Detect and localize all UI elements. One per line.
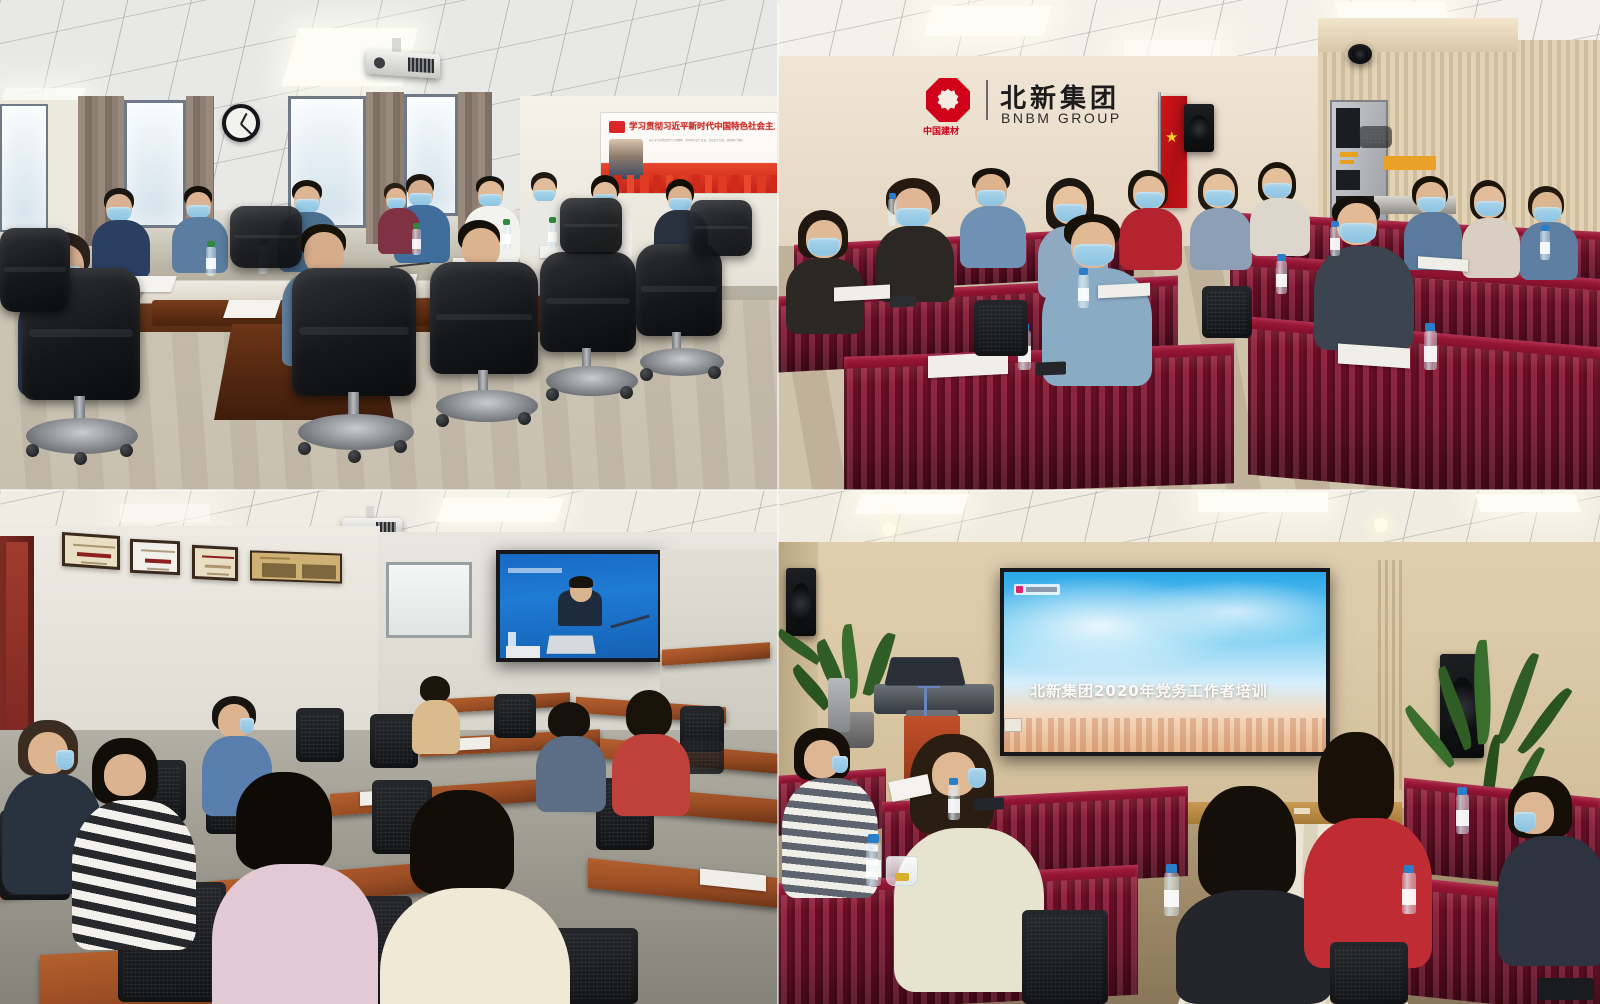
water-bottle bbox=[502, 224, 511, 250]
panel-bottom-left: Classroom viewing a live video lecture o… bbox=[0, 490, 778, 1004]
ceiling-light bbox=[923, 6, 1053, 36]
notebook bbox=[1098, 283, 1150, 299]
banner-title: 学习贯彻习近平新时代中国特色社会主义思想 bbox=[629, 120, 775, 132]
chair[interactable] bbox=[1358, 126, 1392, 148]
whiteboard bbox=[386, 562, 472, 638]
water-bottle bbox=[548, 222, 557, 248]
water-bottle bbox=[1540, 230, 1550, 260]
mobile-phone[interactable] bbox=[974, 797, 1004, 811]
ceiling-light bbox=[436, 498, 564, 522]
wall-plaque bbox=[62, 532, 120, 570]
photo-collage: 学习贯彻习近平新时代中国特色社会主义思想 深入学习贯彻党的十九大精神，紮牢树立四… bbox=[0, 0, 1600, 1004]
panel-bottom-right: 北新集团2020年党务工作者培训 bbox=[778, 490, 1600, 1004]
slide-logo bbox=[1014, 584, 1060, 595]
downlight bbox=[1374, 518, 1388, 532]
logo-subtext: 中国建材 bbox=[923, 124, 959, 137]
water-bottle bbox=[1402, 872, 1416, 914]
slide-title: 北新集团2020年党务工作者培训 bbox=[1030, 680, 1268, 701]
podium-laptop[interactable] bbox=[884, 657, 966, 686]
chair[interactable] bbox=[1202, 286, 1252, 338]
mobile-phone[interactable] bbox=[890, 295, 916, 307]
ceiling-speaker bbox=[1348, 44, 1372, 64]
water-bottle bbox=[1276, 260, 1287, 294]
projection-screen bbox=[496, 550, 662, 662]
laptop[interactable] bbox=[1538, 978, 1594, 1000]
wall-speaker bbox=[1184, 104, 1214, 152]
chair[interactable] bbox=[1022, 910, 1108, 1004]
mobile-phone[interactable] bbox=[1036, 361, 1066, 375]
tea-cup bbox=[886, 856, 918, 886]
chair[interactable] bbox=[974, 300, 1028, 356]
pa-speaker bbox=[786, 568, 816, 636]
wall-plaque bbox=[250, 550, 342, 583]
ceiling-light bbox=[855, 494, 969, 514]
window bbox=[0, 104, 48, 232]
window bbox=[124, 100, 186, 228]
banner-body: 深入学习贯彻党的十九大精神，紮牢树立四个意识，坚定四个自信，做到两个维护。 bbox=[649, 139, 773, 165]
water-bottle bbox=[1330, 226, 1340, 256]
panel-top-right: 中国建材 北新集团 BNBM GROUP ★ bbox=[778, 0, 1600, 490]
wall-plaque bbox=[192, 545, 238, 581]
document bbox=[223, 300, 281, 318]
notebook bbox=[834, 285, 890, 302]
chair[interactable] bbox=[296, 708, 344, 762]
panel-top-left: 学习贯彻习近平新时代中国特色社会主义思想 深入学习贯彻党的十九大精神，紮牢树立四… bbox=[0, 0, 778, 490]
ceiling-projector bbox=[366, 49, 440, 78]
water-bottle bbox=[888, 198, 897, 226]
chair[interactable] bbox=[370, 714, 418, 768]
water-bottle bbox=[1424, 330, 1437, 370]
wall-clock bbox=[222, 104, 260, 142]
wall-outlet[interactable] bbox=[1004, 718, 1022, 732]
water-bottle bbox=[948, 784, 960, 820]
chair[interactable] bbox=[494, 694, 536, 738]
screen-content bbox=[500, 554, 658, 658]
ceiling-light bbox=[1198, 492, 1328, 512]
downlight bbox=[882, 522, 896, 536]
chair[interactable] bbox=[1330, 942, 1408, 1004]
water-bottle bbox=[1164, 872, 1179, 916]
ceiling-light bbox=[120, 504, 210, 522]
grid-divider-horizontal bbox=[0, 489, 1600, 491]
water-bottle bbox=[866, 842, 881, 886]
logo-english: BNBM GROUP bbox=[1001, 110, 1122, 126]
trash-bin bbox=[828, 678, 850, 732]
rack-indicator bbox=[1384, 156, 1436, 170]
water-bottle bbox=[1456, 794, 1469, 834]
ceiling-light bbox=[1475, 494, 1580, 512]
water-bottle bbox=[412, 228, 421, 255]
water-bottle bbox=[1078, 274, 1089, 308]
wall-plaque bbox=[130, 539, 180, 576]
grid-divider-vertical bbox=[777, 0, 779, 1004]
water-bottle bbox=[206, 246, 216, 276]
